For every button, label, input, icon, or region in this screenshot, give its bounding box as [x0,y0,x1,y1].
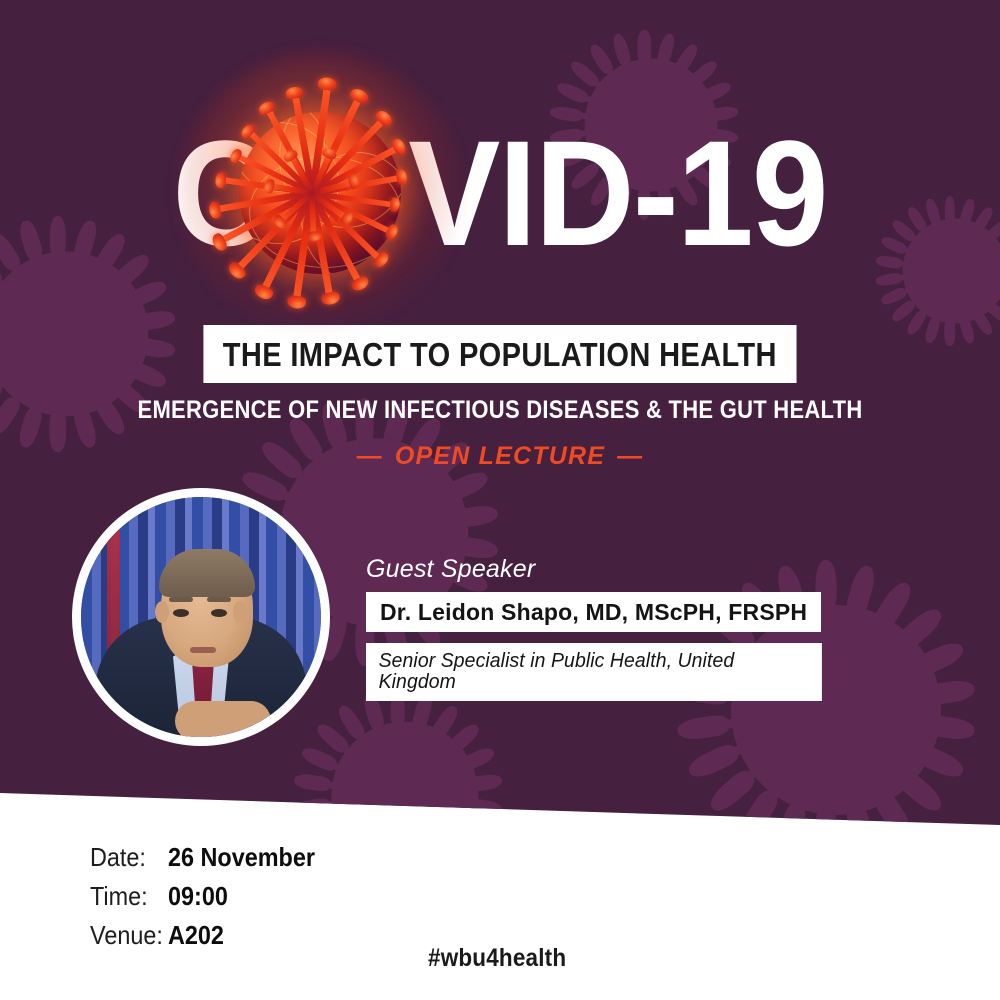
speaker-avatar [72,488,330,746]
dash-right: — [605,443,655,469]
speaker-photo [81,497,321,737]
open-lecture-label: OPEN LECTURE [395,442,605,470]
speaker-brow-left [169,597,193,602]
speaker-brow-right [207,597,231,602]
detail-row-venue: Venue: A202 [90,921,331,949]
speaker-eye-right [211,609,227,617]
date-label: Date: [90,843,157,871]
subtitle-secondary: EMERGENCE OF NEW INFECTIOUS DISEASES & T… [60,397,940,423]
detail-row-time: Time: 09:00 [90,882,331,910]
speaker-role: Senior Specialist in Public Health, Unit… [366,643,822,701]
hero-panel: CVID-19 THE IMPACT TO POPULATION HEALTH … [0,0,1000,830]
subtitle-main: THE IMPACT TO POPULATION HEALTH [204,325,797,383]
speaker-info: Guest Speaker Dr. Leidon Shapo, MD, MScP… [366,556,836,701]
poster-title: CVID-19 [0,118,1000,278]
subtitle-group: THE IMPACT TO POPULATION HEALTH EMERGENC… [0,325,1000,469]
speaker-ear-left [155,601,169,623]
venue-label: Venue: [90,921,157,949]
speaker-ear-right [233,601,247,623]
time-label: Time: [90,882,157,910]
speaker-mouth [190,647,216,653]
title-rest: VID-19 [409,109,827,277]
event-details: Date: 26 November Time: 09:00 Venue: A20… [90,843,331,960]
hashtag: #wbu4health [428,945,566,971]
event-poster: CVID-19 THE IMPACT TO POPULATION HEALTH … [0,0,1000,1000]
info-band: Date: 26 November Time: 09:00 Venue: A20… [0,830,1000,1000]
coronavirus-icon [205,78,435,308]
time-value: 09:00 [168,882,228,910]
speaker-eye-left [173,609,189,617]
speaker-name: Dr. Leidon Shapo, MD, MScPH, FRSPH [366,592,821,632]
speaker-hands [175,701,271,737]
guest-speaker-label: Guest Speaker [366,556,836,582]
detail-row-date: Date: 26 November [90,843,331,871]
venue-value: A202 [168,921,224,949]
open-lecture-tag: —OPEN LECTURE— [0,443,1000,469]
dash-left: — [345,443,395,469]
date-value: 26 November [168,843,315,871]
decorative-virus-icon [300,690,510,830]
